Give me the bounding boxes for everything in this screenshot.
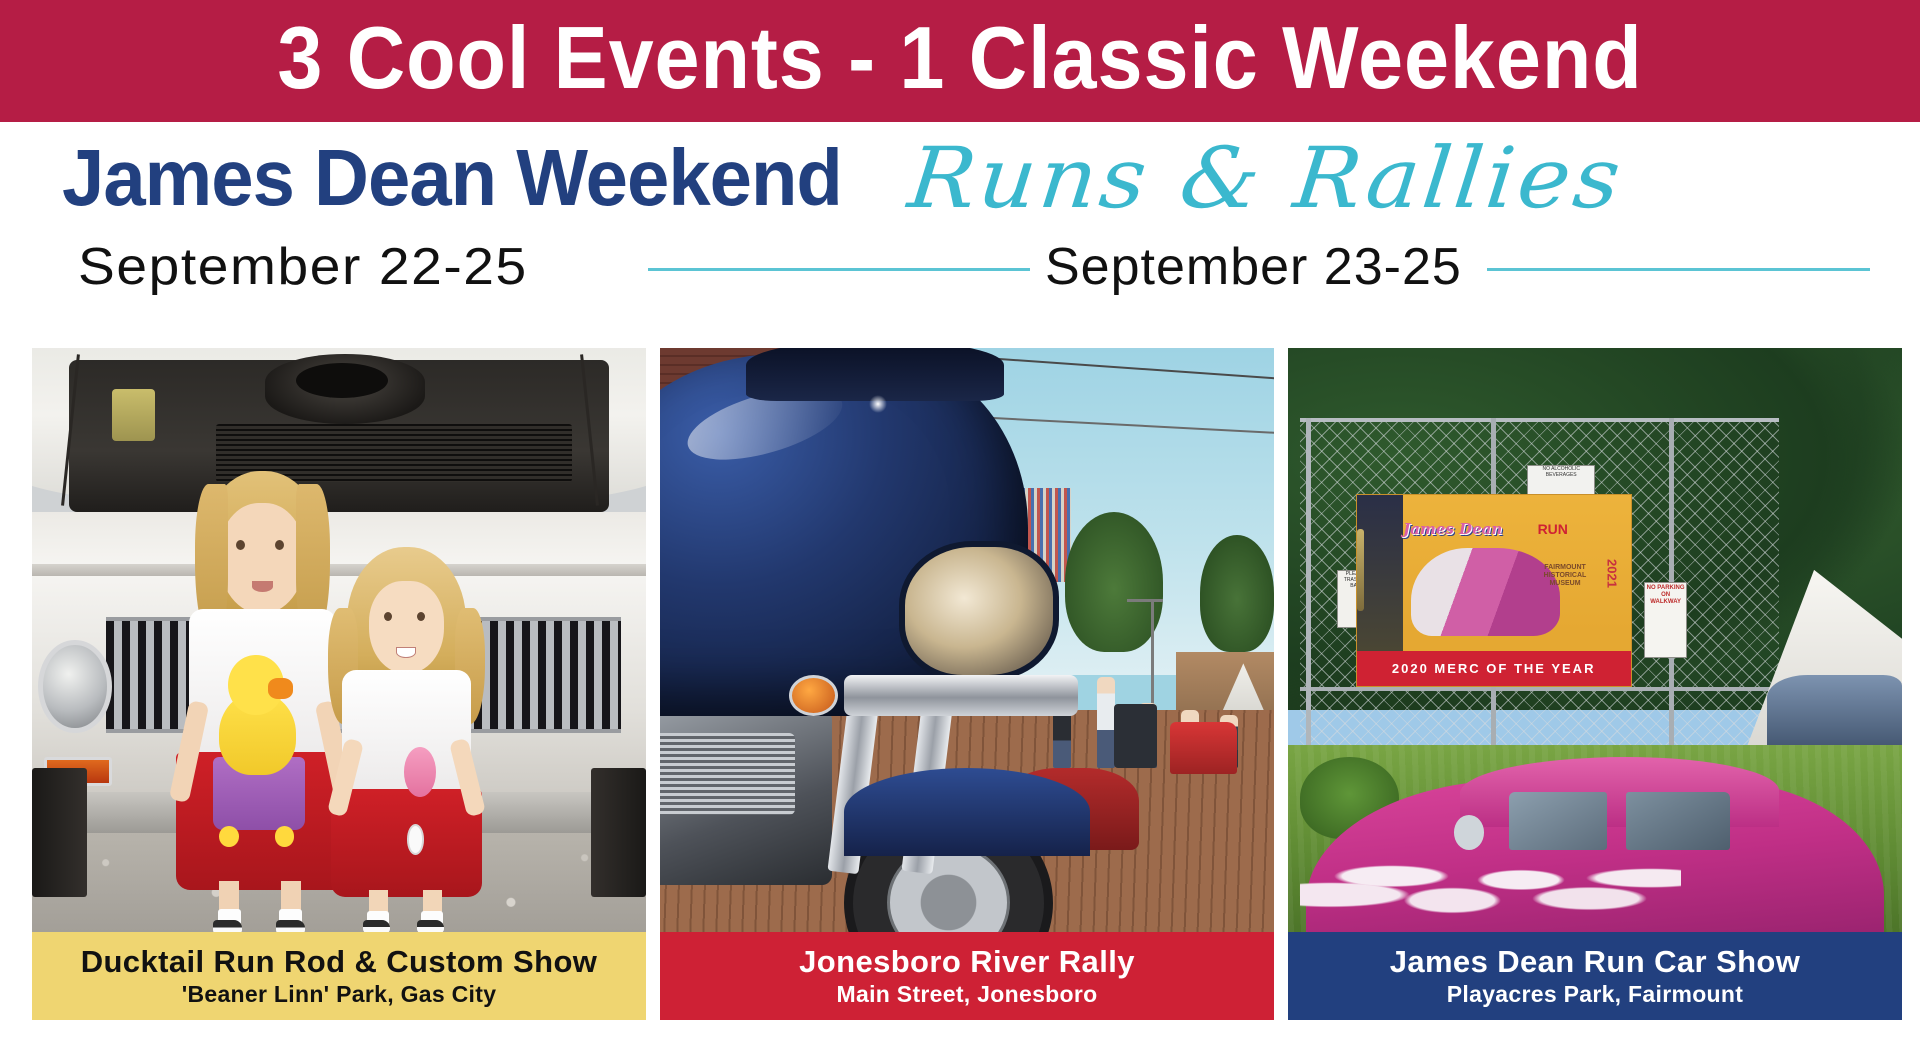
divider-rule-left — [648, 268, 1030, 271]
girl-younger-saddle-shoe-right — [417, 920, 444, 932]
header-banner-text: 3 Cool Events - 1 Classic Weekend — [277, 14, 1642, 108]
background-red-car — [1170, 722, 1238, 775]
banner-run-text: RUN — [1538, 514, 1593, 545]
caption-location: 'Beaner Linn' Park, Gas City — [182, 980, 497, 1009]
fence-post — [1306, 418, 1311, 757]
girl-older-face — [219, 503, 305, 614]
header-banner: 3 Cool Events - 1 Classic Weekend — [0, 0, 1920, 122]
page-title: James Dean Weekend Runs & Rallies — [0, 128, 1920, 228]
air-cleaner-lip — [296, 363, 388, 398]
girl-older — [186, 471, 340, 932]
girl-younger-face — [369, 581, 445, 674]
fluid-reservoir — [112, 389, 155, 442]
duck-plush-beak — [268, 678, 293, 699]
banner-museum-text: FAIRMOUNT HISTORICAL MUSEUM — [1535, 564, 1595, 606]
photo-ducktail-run — [32, 348, 646, 932]
event-panels: Ducktail Run Rod & Custom Show 'Beaner L… — [0, 348, 1920, 1020]
pink-toy — [404, 747, 436, 797]
date-right-text: September 23-25 — [1045, 238, 1462, 296]
event-panel-ducktail-run[interactable]: Ducktail Run Rod & Custom Show 'Beaner L… — [32, 348, 646, 1020]
date-left-text: September 22-25 — [78, 238, 528, 296]
caption-location: Main Street, Jonesboro — [837, 980, 1098, 1009]
caption-location: Playacres Park, Fairmount — [1447, 980, 1743, 1009]
caption-title: Jonesboro River Rally — [799, 944, 1135, 980]
banner-portrait-figure — [1357, 529, 1363, 610]
fence-bottom-rail — [1300, 687, 1779, 691]
tree-left — [1065, 512, 1163, 652]
banner-award-strip: 2020 MERC OF THE YEAR — [1357, 651, 1631, 685]
caption-title: James Dean Run Car Show — [1390, 944, 1801, 980]
street-lamp-arm — [1127, 599, 1164, 602]
sun-glare — [869, 395, 887, 413]
girl-younger-saddle-shoe-left — [363, 920, 390, 932]
caption-title: Ducktail Run Rod & Custom Show — [81, 944, 598, 980]
caption-james-dean-run: James Dean Run Car Show Playacres Park, … — [1288, 932, 1902, 1020]
background-classic-car — [1767, 675, 1902, 751]
girl-older-saddle-shoe-left — [213, 920, 242, 932]
event-panel-jonesboro-river-rally[interactable]: Jonesboro River Rally Main Street, Jones… — [660, 348, 1274, 1020]
duck-plush-foot-left — [219, 826, 239, 847]
girl-older-eye-right — [275, 540, 284, 550]
photo-jonesboro-river-rally — [660, 348, 1274, 932]
caption-ducktail-run: Ducktail Run Rod & Custom Show 'Beaner L… — [32, 932, 646, 1020]
banner-year-text: 2021 — [1601, 510, 1623, 636]
title-main-text: James Dean Weekend — [62, 136, 842, 220]
james-dean-run-banner: James Dean RUN 2021 FAIRMOUNT HISTORICAL… — [1356, 494, 1632, 687]
divider-rule-right — [1487, 268, 1870, 271]
photo-james-dean-run: PLEASE TRASH IN BAG NO ALCOHOLIC BEVERAG… — [1288, 348, 1902, 932]
motorcycle-headlight — [899, 541, 1059, 681]
girl-younger-eye-left — [384, 612, 392, 621]
girl-younger-skirt-poodle — [407, 824, 425, 855]
motorcycle-engine-fins — [660, 733, 795, 815]
fence-top-rail — [1300, 418, 1779, 422]
motorcycle-windscreen — [746, 348, 1004, 401]
mercury-flame-paint — [1300, 839, 1681, 932]
duck-plush-foot-right — [275, 826, 295, 847]
motorcycle-front-fender — [844, 768, 1090, 856]
truck-tire-right — [591, 768, 646, 896]
truck-headlight — [38, 640, 112, 733]
event-panel-james-dean-run[interactable]: PLEASE TRASH IN BAG NO ALCOHOLIC BEVERAG… — [1288, 348, 1902, 1020]
caption-jonesboro-river-rally: Jonesboro River Rally Main Street, Jones… — [660, 932, 1274, 1020]
girl-younger — [339, 547, 474, 932]
motorcycle-turn-signal — [789, 675, 838, 716]
motorcycle-chrome-trim — [844, 675, 1077, 716]
girl-older-saddle-shoe-right — [276, 920, 305, 932]
background-motorcycle — [1114, 704, 1157, 768]
title-script-text: Runs & Rallies — [905, 136, 1628, 220]
truck-tire-left — [32, 768, 87, 896]
person — [1097, 677, 1115, 768]
mercury-roof — [1460, 757, 1779, 827]
tree-right — [1200, 535, 1274, 652]
date-row: September 22-25 September 23-25 — [0, 238, 1920, 300]
banner-james-dean-portrait — [1357, 495, 1404, 651]
no-parking-sign: NO PARKING ON WALKWAY — [1644, 582, 1687, 658]
banner-script-text: James Dean — [1403, 506, 1546, 552]
